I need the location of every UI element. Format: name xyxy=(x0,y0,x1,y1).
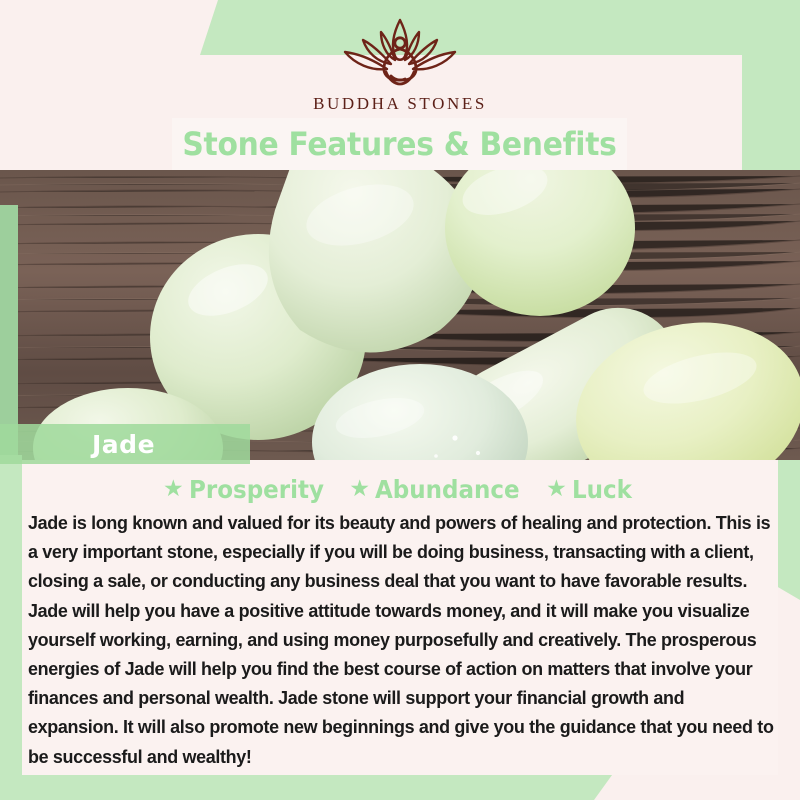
benefit-label: Luck xyxy=(572,475,632,504)
brand-name: BUDDHA STONES xyxy=(313,94,487,114)
content-panel: ★ Prosperity ★ Abundance ★ Luck Jade is … xyxy=(22,460,778,775)
benefit-label: Prosperity xyxy=(189,475,324,504)
benefit-item-abundance: ★ Abundance xyxy=(349,475,532,504)
page-title-band: Stone Features & Benefits xyxy=(172,118,627,170)
benefits-list: ★ Prosperity ★ Abundance ★ Luck xyxy=(28,474,772,504)
star-icon: ★ xyxy=(349,477,370,500)
stone-name: Jade xyxy=(92,430,155,459)
benefit-item-prosperity: ★ Prosperity xyxy=(163,475,335,504)
star-icon: ★ xyxy=(163,477,184,500)
jade-tumbled-stones-on-wood-photo xyxy=(0,170,800,460)
decorative-green-strip-left xyxy=(0,455,22,775)
benefit-label: Abundance xyxy=(375,475,520,504)
brand-logo: BUDDHA STONES xyxy=(0,14,800,114)
benefit-item-luck: ★ Luck xyxy=(546,475,637,504)
star-icon: ★ xyxy=(546,477,567,500)
decorative-green-strip-left-upper xyxy=(0,205,18,455)
stone-description: Jade is long known and valued for its be… xyxy=(28,508,779,771)
stone-name-label: Jade xyxy=(0,424,250,464)
lotus-meditation-icon xyxy=(325,14,475,90)
stone-benefits-infographic: BUDDHA STONES Stone Features & Benefits xyxy=(0,0,800,800)
page-title: Stone Features & Benefits xyxy=(182,125,616,163)
